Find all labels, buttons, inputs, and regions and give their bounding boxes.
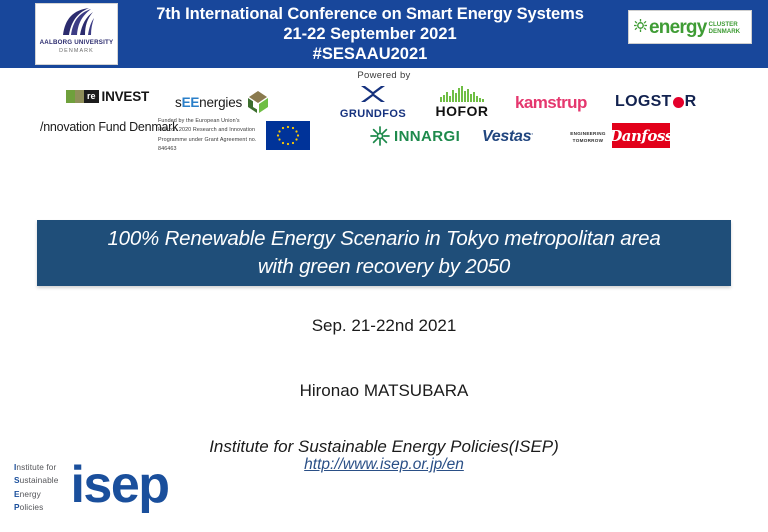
reinvest-color-blocks bbox=[66, 90, 84, 103]
presentation-title-banner: 100% Renewable Energy Scenario in Tokyo … bbox=[37, 220, 731, 286]
vestas-trademark-icon: . bbox=[531, 130, 533, 137]
seenergies-diamond-icon bbox=[246, 90, 270, 114]
isep-rest-1: nstitute for bbox=[16, 462, 56, 472]
danfoss-tagline-line2: TOMORROW bbox=[568, 138, 608, 145]
isep-logo: Institute for Sustainable Energy Policie… bbox=[14, 461, 169, 515]
isep-rest-3: nergy bbox=[20, 489, 41, 499]
hofor-logo: HOFOR bbox=[424, 86, 500, 119]
isep-line-4: Policies bbox=[14, 501, 58, 514]
hofor-bars-icon bbox=[424, 86, 500, 102]
seen-post: nergies bbox=[199, 95, 242, 110]
presentation-date: Sep. 21-22nd 2021 bbox=[0, 316, 768, 336]
reinvest-wordmark: INVEST bbox=[102, 89, 150, 104]
presentation-title: 100% Renewable Energy Scenario in Tokyo … bbox=[95, 225, 672, 280]
innargi-logo: INNARGI bbox=[370, 126, 460, 146]
isep-line-1: Institute for bbox=[14, 461, 58, 474]
logstor-part2: R bbox=[685, 93, 697, 111]
logstor-part1: LOGST bbox=[615, 93, 672, 111]
grundfos-wordmark: GRUNDFOS bbox=[330, 108, 416, 120]
seen-mid: EE bbox=[182, 95, 200, 110]
eu-stars bbox=[266, 121, 310, 150]
grundfos-mark-icon bbox=[359, 84, 387, 104]
hofor-wordmark: HOFOR bbox=[424, 103, 500, 119]
eu-funding-note: Funded by the European Union's Horizon 2… bbox=[158, 117, 258, 155]
innargi-wordmark: INNARGI bbox=[394, 128, 460, 145]
danfoss-tagline: ENGINEERING TOMORROW bbox=[568, 131, 608, 145]
presentation-title-line1: 100% Renewable Energy Scenario in Tokyo … bbox=[107, 227, 660, 250]
kamstrup-logo: kamstrup bbox=[515, 93, 587, 113]
danfoss-wordmark: Danfoss bbox=[609, 127, 672, 145]
presentation-organization: Institute for Sustainable Energy Policie… bbox=[0, 437, 768, 457]
reinvest-badge: re bbox=[84, 90, 99, 103]
logstor-dot-icon bbox=[673, 97, 684, 108]
innargi-burst-icon bbox=[370, 126, 390, 146]
isep-expansion-text: Institute for Sustainable Energy Policie… bbox=[14, 461, 58, 515]
logstor-logo: LOGST R bbox=[615, 93, 696, 111]
danfoss-logo: Danfoss bbox=[612, 123, 670, 148]
eu-flag-icon bbox=[266, 121, 310, 150]
grundfos-logo: GRUNDFOS bbox=[330, 84, 416, 120]
reinvest-logo: re INVEST bbox=[66, 89, 149, 104]
presentation-author: Hironao MATSUBARA bbox=[0, 381, 768, 401]
presentation-title-line2: with green recovery by 2050 bbox=[258, 255, 510, 278]
isep-line-2: Sustainable bbox=[14, 474, 58, 487]
isep-rest-4: olicies bbox=[20, 502, 44, 512]
danfoss-tagline-line1: ENGINEERING bbox=[568, 131, 608, 138]
isep-wordmark: isep bbox=[70, 461, 168, 510]
vestas-logo: Vestas. bbox=[482, 128, 533, 146]
sponsor-logo-area: re INVEST /nnovation Fund Denmark sEEner… bbox=[0, 0, 768, 170]
seenergies-wordmark: sEEnergies bbox=[175, 95, 242, 110]
isep-rest-2: ustainable bbox=[20, 475, 59, 485]
isep-line-3: Energy bbox=[14, 488, 58, 501]
vestas-wordmark: Vestas bbox=[482, 128, 531, 145]
seenergies-logo: sEEnergies bbox=[175, 90, 270, 114]
